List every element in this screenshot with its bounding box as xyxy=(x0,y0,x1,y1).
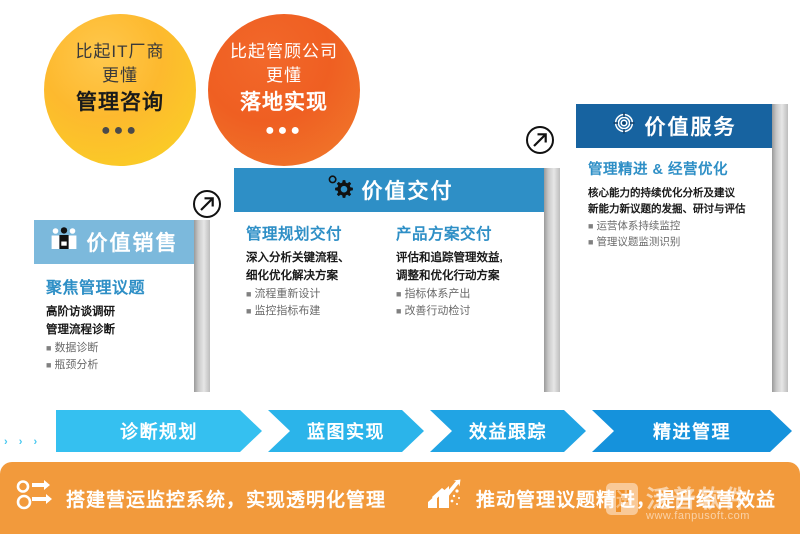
stage-chevron-2[interactable]: 蓝图实现 xyxy=(268,410,424,452)
panel-body: 聚焦管理议题 高阶访谈调研 管理流程诊断 ■数据诊断 ■瓶颈分析 xyxy=(34,264,194,375)
square-bullet-icon: ■ xyxy=(588,237,593,247)
desc-line: 细化优化解决方案 xyxy=(246,268,382,286)
circle-dots: ●●● xyxy=(101,123,139,139)
bottom-banner: 搭建营运监控系统，实现透明化管理 推动管理议题精进，提升经营效益 xyxy=(0,462,800,534)
stage-chevron-4[interactable]: 精进管理 xyxy=(592,410,792,452)
panel-value-service: 价值服务 管理精进 & 经营优化 核心能力的持续优化分析及建议 新能力新议题的发… xyxy=(576,104,772,392)
desc-line: 新能力新议题的发掘、研讨与评估 xyxy=(588,201,760,217)
panel-title: 价值交付 xyxy=(362,175,454,205)
panel-body: 管理精进 & 经营优化 核心能力的持续优化分析及建议 新能力新议题的发掘、研讨与… xyxy=(576,148,772,251)
bullet-label: 数据诊断 xyxy=(54,342,98,354)
stage-band: › › › 诊断规划 蓝图实现 效益跟踪 精进管理 xyxy=(56,410,800,452)
desc-line: 调整和优化行动方案 xyxy=(396,268,532,286)
panel-subtitle: 聚焦管理议题 xyxy=(46,274,182,298)
circle-dots: ●●● xyxy=(265,123,303,139)
bullet-item: ■数据诊断 xyxy=(46,340,182,358)
bullet-label: 运营体系持续监控 xyxy=(596,220,680,232)
desc-line: 管理流程诊断 xyxy=(46,322,182,340)
bullet-label: 流程重新设计 xyxy=(254,288,320,300)
square-bullet-icon: ■ xyxy=(396,306,401,316)
panel-bullets: ■流程重新设计 ■监控指标布建 xyxy=(246,286,382,321)
panel-header: 价值销售 xyxy=(34,220,194,264)
bullet-item: ■指标体系产出 xyxy=(396,286,532,304)
panel-header: 价值服务 xyxy=(576,104,772,148)
bullet-item: ■监控指标布建 xyxy=(246,303,382,321)
growth-chart-icon xyxy=(424,477,464,519)
circle-badge-consulting: 比起IT厂商 更懂 管理咨询 ●●● xyxy=(44,14,196,166)
panel-bullets: ■数据诊断 ■瓶颈分析 xyxy=(46,340,182,375)
bullet-item: ■流程重新设计 xyxy=(246,286,382,304)
arrow-up-right-circle-icon xyxy=(192,189,222,219)
bullet-item: ■管理议题监测识别 xyxy=(588,234,760,251)
square-bullet-icon: ■ xyxy=(246,306,251,316)
panel-body: 管理规划交付 深入分析关键流程、 细化优化解决方案 ■流程重新设计 ■监控指标布… xyxy=(234,212,544,321)
panel-side-face xyxy=(194,220,210,392)
stage-chevron-1[interactable]: 诊断规划 xyxy=(56,410,262,452)
square-bullet-icon: ■ xyxy=(46,360,51,370)
banner-text: 推动管理议题精进，提升经营效益 xyxy=(476,485,776,512)
panel-value-delivery: 价值交付 管理规划交付 深入分析关键流程、 细化优化解决方案 ■流程重新设计 ■… xyxy=(234,168,544,392)
panel-subtitle: 产品方案交付 xyxy=(396,222,532,244)
desc-line: 深入分析关键流程、 xyxy=(246,250,382,268)
panel-bullets: ■指标体系产出 ■改善行动检讨 xyxy=(396,286,532,321)
panel-value-sales: 价值销售 聚焦管理议题 高阶访谈调研 管理流程诊断 ■数据诊断 ■瓶颈分析 xyxy=(34,220,194,392)
circle-line3: 管理咨询 xyxy=(76,90,164,116)
arrow-badge-1 xyxy=(192,189,222,219)
desc-line: 高阶访谈调研 xyxy=(46,304,182,322)
panel-subtitle: 管理精进 & 经营优化 xyxy=(588,158,760,179)
panel-subtitle: 管理规划交付 xyxy=(246,222,382,244)
stage-label: 蓝图实现 xyxy=(307,418,385,444)
arrow-up-right-circle-icon xyxy=(525,125,555,155)
radar-target-icon xyxy=(612,111,636,141)
desc-line: 评估和追踪管理效益, xyxy=(396,250,532,268)
stage-label: 效益跟踪 xyxy=(469,418,547,444)
circle-line1: 比起管顾公司 xyxy=(230,41,338,62)
circle-line2: 更懂 xyxy=(266,65,302,86)
banner-item-2: 推动管理议题精进，提升经营效益 xyxy=(400,477,800,519)
panel-description: 核心能力的持续优化分析及建议 新能力新议题的发掘、研讨与评估 xyxy=(588,185,760,218)
bullet-label: 管理议题监测识别 xyxy=(596,236,680,248)
circle-line2: 更懂 xyxy=(102,65,138,86)
panel-columns: 管理规划交付 深入分析关键流程、 细化优化解决方案 ■流程重新设计 ■监控指标布… xyxy=(246,222,532,321)
circle-line3: 落地实现 xyxy=(240,90,328,116)
square-bullet-icon: ■ xyxy=(246,289,251,299)
panel-title: 价值服务 xyxy=(645,111,737,141)
bullet-item: ■瓶颈分析 xyxy=(46,357,182,375)
bullet-label: 监控指标布建 xyxy=(254,305,320,317)
panel-column: 产品方案交付 评估和追踪管理效益, 调整和优化行动方案 ■指标体系产出 ■改善行… xyxy=(396,222,532,321)
banner-item-1: 搭建营运监控系统，实现透明化管理 xyxy=(0,477,400,519)
gears-arrow-icon xyxy=(14,477,54,519)
banner-text: 搭建营运监控系统，实现透明化管理 xyxy=(66,485,386,512)
panel-title: 价值销售 xyxy=(87,227,179,257)
infographic-canvas: 比起IT厂商 更懂 管理咨询 ●●● 比起管顾公司 更懂 落地实现 ●●● xyxy=(0,0,800,534)
circle-badge-implementation: 比起管顾公司 更懂 落地实现 ●●● xyxy=(208,14,360,166)
panel-side-face xyxy=(544,168,560,392)
panel-header: 价值交付 xyxy=(234,168,544,212)
arrow-badge-2 xyxy=(525,125,555,155)
bullet-label: 改善行动检讨 xyxy=(404,305,470,317)
stage-label: 精进管理 xyxy=(653,418,731,444)
panel-description: 高阶访谈调研 管理流程诊断 xyxy=(46,304,182,340)
square-bullet-icon: ■ xyxy=(588,221,593,231)
square-bullet-icon: ■ xyxy=(46,343,51,353)
panel-column: 管理规划交付 深入分析关键流程、 细化优化解决方案 ■流程重新设计 ■监控指标布… xyxy=(246,222,382,321)
square-bullet-icon: ■ xyxy=(396,289,401,299)
panel-description: 深入分析关键流程、 细化优化解决方案 xyxy=(246,250,382,286)
desc-line: 核心能力的持续优化分析及建议 xyxy=(588,185,760,201)
gear-icon xyxy=(325,174,353,206)
band-pre-marks: › › › xyxy=(4,436,41,448)
stage-chevron-3[interactable]: 效益跟踪 xyxy=(430,410,586,452)
panel-bullets: ■运营体系持续监控 ■管理议题监测识别 xyxy=(588,218,760,252)
bullet-item: ■改善行动检讨 xyxy=(396,303,532,321)
bullet-label: 瓶颈分析 xyxy=(54,359,98,371)
panel-description: 评估和追踪管理效益, 调整和优化行动方案 xyxy=(396,250,532,286)
bullet-item: ■运营体系持续监控 xyxy=(588,218,760,235)
circle-line1: 比起IT厂商 xyxy=(75,41,164,62)
people-group-icon xyxy=(50,226,78,258)
stage-label: 诊断规划 xyxy=(120,418,198,444)
bullet-label: 指标体系产出 xyxy=(404,288,470,300)
panel-side-face xyxy=(772,104,788,392)
